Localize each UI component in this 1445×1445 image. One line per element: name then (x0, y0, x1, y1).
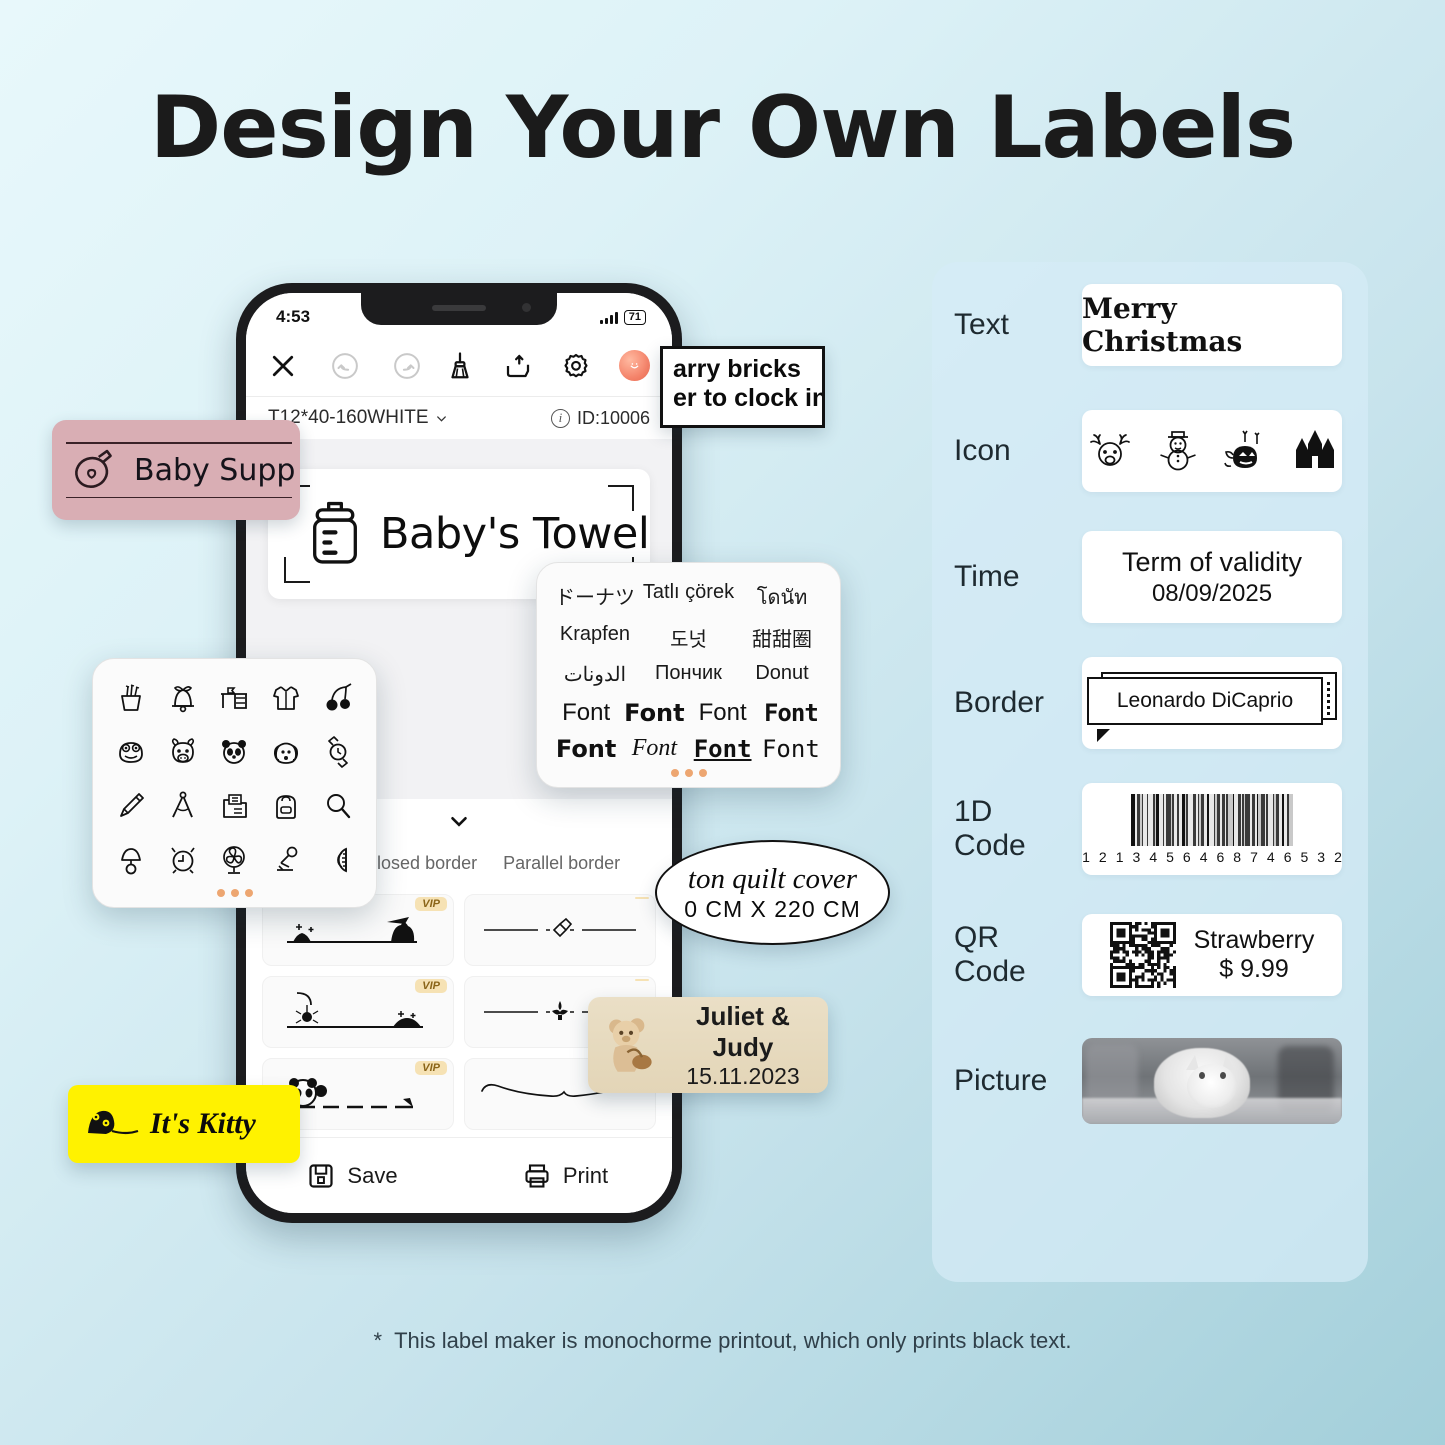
reindeer-icon (1087, 428, 1133, 474)
sticker-its-kitty: It's Kitty (68, 1085, 300, 1163)
feature-label-1d-code: 1D Code (954, 795, 1082, 862)
font-lang-sample[interactable]: الدونات (553, 662, 637, 687)
font-style-sample[interactable]: Font (553, 699, 619, 727)
border-dots (1327, 682, 1330, 715)
time-sample-line2: 08/09/2025 (1152, 580, 1272, 608)
feature-label-qr-line2: Code (954, 955, 1026, 988)
baby-bottle-icon (306, 501, 364, 567)
sticker-quilt-cover: ton quilt cover 0 CM X 220 CM (655, 840, 890, 945)
vip-badge: VIP (415, 1061, 447, 1075)
font-lang-sample[interactable]: Пончик (643, 662, 734, 687)
compass-icon[interactable] (159, 783, 207, 829)
feature-row-border: Border Leonardo DiCaprio (932, 640, 1368, 766)
spider-grave-divider-icon (283, 987, 433, 1037)
feature-label-border: Border (954, 686, 1082, 720)
save-label: Save (347, 1163, 397, 1189)
qr-code-icon (1110, 922, 1176, 988)
backpack-icon[interactable] (262, 783, 310, 829)
barcode-digit: 2 (1099, 849, 1107, 865)
icon-sample-row (1087, 428, 1337, 474)
vip-badge: VIP (415, 897, 447, 911)
feature-card-qr-code: Strawberry $ 9.99 (1082, 914, 1342, 996)
vip-badge: VIP (415, 979, 447, 993)
border-front-frame: Leonardo DiCaprio (1087, 677, 1323, 725)
broom-icon[interactable] (445, 351, 475, 381)
phone-notch (361, 293, 557, 325)
print-label: Print (563, 1163, 608, 1189)
sticker-rule-bottom (66, 497, 292, 499)
feature-card-icon (1082, 410, 1342, 492)
pen-holder-icon[interactable] (107, 675, 155, 721)
save-icon (307, 1162, 335, 1190)
font-lang-sample[interactable]: Tatlı çörek (643, 581, 734, 613)
template-item[interactable] (464, 894, 656, 966)
earpiece-speaker (432, 305, 486, 311)
desk-lamp-icon[interactable] (262, 837, 310, 883)
magnifier-icon[interactable] (314, 783, 362, 829)
dog-icon[interactable] (262, 729, 310, 775)
feature-row-qr-code: QR Code Strawberry $ 9.99 (932, 892, 1368, 1018)
barcode-digit: 5 (1166, 849, 1174, 865)
sticker-rule-top (66, 442, 292, 444)
barcode-digit: 3 (1133, 849, 1141, 865)
border-speech-tail (1097, 729, 1110, 742)
feature-label-time: Time (954, 560, 1082, 594)
feature-label-1d-line1: 1D (954, 795, 992, 828)
feature-card-1d-code: 1213456468746532 (1082, 783, 1342, 875)
feature-label-icon: Icon (954, 434, 1082, 468)
label-text-value[interactable]: Baby's Towel (380, 509, 649, 559)
font-lang-sample[interactable]: 甜甜圈 (740, 623, 824, 652)
corner-mark-tr (608, 485, 634, 511)
witch-cat-divider-icon (283, 906, 433, 954)
desk-icon[interactable] (211, 675, 259, 721)
battery-icon: 71 (624, 310, 646, 325)
font-lang-sample[interactable]: โดนัท (740, 581, 824, 613)
font-style-sample[interactable]: Font (690, 735, 756, 763)
border-sample: Leonardo DiCaprio (1087, 672, 1337, 734)
print-icon (523, 1162, 551, 1190)
feature-panel: Text Merry Christmas Icon (932, 262, 1368, 1282)
qr-sample: Strawberry $ 9.99 (1096, 922, 1329, 988)
barcode-digit: 4 (1149, 849, 1157, 865)
cherry-icon[interactable] (314, 675, 362, 721)
feature-row-icon: Icon (932, 388, 1368, 514)
vip-badge (635, 979, 649, 981)
font-style-sample[interactable]: Font (621, 699, 687, 727)
feature-row-text: Text Merry Christmas (932, 262, 1368, 388)
feature-row-1d-code: 1D Code 1213456468746532 (932, 766, 1368, 892)
barcode-digit: 4 (1200, 849, 1208, 865)
more-dots-icon[interactable] (553, 763, 824, 787)
feature-card-picture (1082, 1038, 1342, 1124)
font-style-sample[interactable]: Font (758, 735, 824, 763)
footnote-text: This label maker is monochorme printout,… (394, 1328, 1071, 1353)
feature-card-time: Term of validity 08/09/2025 (1082, 531, 1342, 623)
barcode-sample: 1213456468746532 (1082, 794, 1342, 865)
barcode-digit: 1 (1116, 849, 1124, 865)
barcode-bars (1131, 794, 1294, 846)
pumpkin-icon (1223, 428, 1269, 474)
feature-label-qr-code: QR Code (954, 921, 1082, 988)
tab-parallel-border[interactable]: Parallel border (503, 853, 620, 874)
sticker-baby-supplies: Baby Supp (52, 420, 300, 520)
feature-card-text: Merry Christmas (1082, 284, 1342, 366)
label-id-group[interactable]: i ID:10006 (551, 408, 650, 429)
close-icon[interactable] (268, 351, 298, 381)
label-spec-bar: T12*40-160WHITE i ID:10006 (246, 397, 672, 439)
diamond-link-divider-icon (480, 915, 640, 945)
black-cat-icon (82, 1099, 140, 1149)
feature-label-1d-line2: Code (954, 829, 1026, 862)
template-item[interactable]: VIP (262, 976, 454, 1048)
barcode-digit: 3 (1317, 849, 1325, 865)
feature-label-text: Text (954, 308, 1082, 342)
redo-icon[interactable] (392, 351, 422, 381)
lamp-icon[interactable] (107, 837, 155, 883)
font-style-sample[interactable]: Font (553, 735, 619, 763)
sticker-quilt-line1: ton quilt cover (688, 863, 857, 896)
baby-bottle-icon (68, 444, 120, 496)
feature-label-qr-line1: QR (954, 921, 999, 954)
front-camera (522, 303, 531, 312)
feature-card-border: Leonardo DiCaprio (1082, 657, 1342, 749)
avatar[interactable] (619, 350, 650, 381)
sticker-juliet-line1: Juliet & Judy (696, 1001, 790, 1062)
cow-icon[interactable] (159, 729, 207, 775)
barcode-digit: 1 (1082, 849, 1090, 865)
barcode-digit: 7 (1250, 849, 1258, 865)
sticker-quilt-line2: 0 CM X 220 CM (684, 896, 861, 923)
qr-sample-line2: $ 9.99 (1194, 955, 1315, 984)
font-style-sample[interactable]: Font (690, 699, 756, 727)
kitten-head (1187, 1064, 1237, 1108)
barcode-digit: 6 (1217, 849, 1225, 865)
watch-icon[interactable] (314, 729, 362, 775)
feature-row-time: Time Term of validity 08/09/2025 (932, 514, 1368, 640)
bell-icon[interactable] (159, 675, 207, 721)
time-sample-line1: Term of validity (1122, 547, 1302, 578)
sticker-kitty-text: It's Kitty (150, 1107, 256, 1141)
frog-icon[interactable] (107, 729, 155, 775)
qr-text: Strawberry $ 9.99 (1194, 926, 1315, 984)
font-style-sample[interactable]: Font (758, 699, 824, 727)
vip-badge (635, 897, 649, 899)
sticker-baby-text: Baby Supp (134, 453, 295, 488)
editor-toolbar (246, 335, 672, 397)
sticker-bricks-line1: arry bricks (673, 355, 812, 384)
font-lang-sample[interactable]: ドーナツ (553, 581, 637, 613)
font-picker-popover[interactable]: ドーナツ Tatlı çörek โดนัท Krapfen 도넛 甜甜圈 ال… (536, 562, 841, 788)
folder-icon[interactable] (211, 783, 259, 829)
icon-picker-popover[interactable] (92, 658, 377, 908)
print-button[interactable]: Print (459, 1162, 672, 1190)
page-title: Design Your Own Labels (0, 78, 1445, 178)
info-icon: i (551, 409, 570, 428)
feature-label-picture: Picture (954, 1064, 1082, 1098)
barcode-digits: 1213456468746532 (1082, 849, 1342, 865)
protractor-icon[interactable] (314, 837, 362, 883)
corner-mark-bl (284, 557, 310, 583)
panda-dashed-divider-icon (281, 1071, 436, 1117)
fan-icon[interactable] (211, 837, 259, 883)
pencil-icon[interactable] (107, 783, 155, 829)
alarm-clock-icon[interactable] (159, 837, 207, 883)
chevron-down-icon[interactable] (446, 808, 472, 834)
font-lang-sample[interactable]: 도넛 (643, 623, 734, 652)
editor-bottom-bar: Save Print (246, 1137, 672, 1213)
sticker-clock-in: arry bricks er to clock in (660, 346, 825, 428)
panda-icon[interactable] (211, 729, 259, 775)
footnote: *This label maker is monochorme printout… (0, 1328, 1445, 1354)
barcode-digit: 5 (1300, 849, 1308, 865)
font-lang-sample[interactable]: Krapfen (553, 623, 637, 652)
save-button[interactable]: Save (246, 1162, 459, 1190)
footnote-star: * (374, 1328, 383, 1353)
icon-grid[interactable] (107, 675, 362, 883)
feature-row-picture: Picture (932, 1018, 1368, 1144)
signal-icon (600, 311, 618, 324)
undo-icon[interactable] (330, 351, 360, 381)
status-time: 4:53 (276, 307, 310, 327)
barcode-digit: 6 (1183, 849, 1191, 865)
text-sample-value: Merry Christmas (1082, 292, 1342, 358)
sticker-bricks-line2: er to clock in (673, 384, 812, 413)
qr-sample-line1: Strawberry (1194, 926, 1315, 955)
font-language-samples[interactable]: ドーナツ Tatlı çörek โดนัท Krapfen 도넛 甜甜圈 ال… (553, 581, 824, 687)
border-sample-value: Leonardo DiCaprio (1117, 689, 1293, 713)
smiley-icon (626, 357, 643, 374)
more-dots-icon[interactable] (107, 883, 362, 907)
font-lang-sample[interactable]: Donut (740, 662, 824, 687)
export-icon[interactable] (503, 351, 533, 381)
font-style-samples[interactable]: Font Font Font Font Font Font Font Font (553, 699, 824, 763)
barcode-digit: 4 (1267, 849, 1275, 865)
bear-icon (600, 1011, 662, 1079)
barcode-digit: 6 (1284, 849, 1292, 865)
photo-background-left (1086, 1044, 1138, 1104)
barcode-digit: 8 (1233, 849, 1241, 865)
snowman-icon (1155, 428, 1201, 474)
castle-icon (1291, 428, 1337, 474)
status-indicators: 71 (600, 310, 646, 325)
chevron-down-icon (434, 411, 449, 426)
barcode-digit: 2 (1334, 849, 1342, 865)
label-id-value: ID:10006 (577, 408, 650, 429)
font-style-sample[interactable]: Font (621, 735, 687, 763)
sticker-juliet-line2: 15.11.2023 (686, 1063, 799, 1089)
gear-icon[interactable] (561, 351, 591, 381)
shirt-icon[interactable] (262, 675, 310, 721)
sticker-juliet-judy: Juliet & Judy 15.11.2023 (588, 997, 828, 1093)
